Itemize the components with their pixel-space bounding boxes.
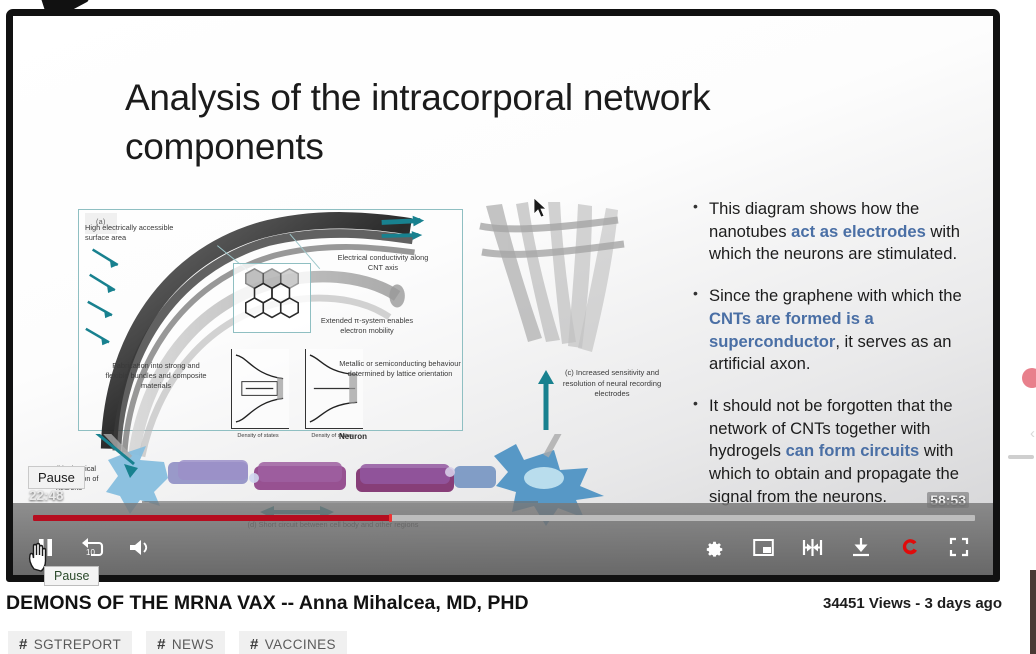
panel-c-arrow xyxy=(533,368,559,432)
fullscreen-icon xyxy=(949,537,969,557)
right-controls xyxy=(700,533,973,561)
label-fabrication: Fabrication into strong and flexible bun… xyxy=(101,361,211,392)
bullet-item: This diagram shows how the nanotubes act… xyxy=(689,198,989,266)
bullet-text-plain: Since the graphene with which the xyxy=(709,286,962,305)
label-metallic: Metallic or semiconducting behaviour det… xyxy=(339,359,461,379)
graphene-lattice-inset xyxy=(233,263,311,333)
download-button[interactable] xyxy=(847,533,875,561)
rumble-button[interactable] xyxy=(896,533,924,561)
rewind-10-button[interactable]: 10 xyxy=(78,533,106,561)
bullet-text-highlight: can form circuits xyxy=(786,441,920,460)
miniplayer-icon xyxy=(753,538,774,557)
hash-icon: # xyxy=(250,636,259,653)
pause-tooltip-top: Pause xyxy=(28,466,85,489)
theater-icon xyxy=(801,538,824,557)
progress-scrubber[interactable] xyxy=(33,515,975,521)
edge-avatar-partial[interactable] xyxy=(1022,368,1036,388)
volume-button[interactable] xyxy=(125,533,153,561)
elapsed-time: 22:48 xyxy=(29,488,64,503)
label-pi-system: Extended π-system enables electron mobil… xyxy=(311,316,423,336)
bullet-text-highlight: act as electrodes xyxy=(791,222,926,241)
rewind-10-icon: 10 xyxy=(81,537,104,558)
progress-knob[interactable] xyxy=(389,514,392,522)
theater-button[interactable] xyxy=(798,533,826,561)
bullet-item: Since the graphene with which the CNTs a… xyxy=(689,285,989,376)
tag-chip[interactable]: # SGTREPORT xyxy=(8,631,132,654)
hash-icon: # xyxy=(157,636,166,653)
download-icon xyxy=(851,537,871,557)
video-title[interactable]: DEMONS OF THE MRNA VAX -- Anna Mihalcea,… xyxy=(6,592,529,615)
fullscreen-button[interactable] xyxy=(945,533,973,561)
player-control-bar[interactable]: 10 xyxy=(13,503,993,575)
pause-tooltip-bottom: Pause xyxy=(44,566,99,586)
miniplayer-button[interactable] xyxy=(749,533,777,561)
page-root: Analysis of the intracorporal network co… xyxy=(0,0,1036,654)
chevron-left-icon[interactable]: ‹ xyxy=(1030,425,1035,442)
tag-chip[interactable]: # NEWS xyxy=(146,631,225,654)
svg-text:10: 10 xyxy=(86,548,95,557)
tag-chip[interactable]: # VACCINES xyxy=(239,631,347,654)
volume-icon xyxy=(128,538,150,557)
hash-icon: # xyxy=(19,636,28,653)
video-stage: Analysis of the intracorporal network co… xyxy=(13,16,993,575)
label-surface-area: High electrically accessible surface are… xyxy=(85,223,189,243)
tag-label: VACCINES xyxy=(265,637,336,652)
slide-title: Analysis of the intracorporal network co… xyxy=(125,74,885,172)
tag-list: # SGTREPORT # NEWS # VACCINES xyxy=(8,631,347,654)
tag-label: SGTREPORT xyxy=(34,637,121,652)
gear-icon xyxy=(704,537,724,557)
edge-panel-partial xyxy=(1030,570,1036,654)
edge-divider xyxy=(1008,455,1034,459)
pause-icon xyxy=(37,538,54,557)
progress-fill xyxy=(33,515,391,521)
left-controls: 10 xyxy=(31,533,153,561)
pause-button[interactable] xyxy=(31,533,59,561)
rumble-c-icon xyxy=(900,537,920,557)
mouse-cursor-arrow xyxy=(533,197,549,219)
label-conductivity: Electrical conductivity along CNT axis xyxy=(331,253,435,273)
settings-button[interactable] xyxy=(700,533,728,561)
label-panel-c: (c) Increased sensitivity and resolution… xyxy=(561,368,663,400)
slide-bullet-list: This diagram shows how the nanotubes act… xyxy=(689,198,989,528)
recording-electrode-illustration xyxy=(468,202,648,377)
tag-label: NEWS xyxy=(172,637,214,652)
label-neuron: Neuron xyxy=(308,432,398,441)
density-of-states-plot-left xyxy=(231,349,289,429)
presentation-slide: Analysis of the intracorporal network co… xyxy=(13,16,993,575)
video-stats: 34451 Views - 3 days ago xyxy=(823,595,1002,612)
video-player[interactable]: Analysis of the intracorporal network co… xyxy=(6,9,1000,582)
